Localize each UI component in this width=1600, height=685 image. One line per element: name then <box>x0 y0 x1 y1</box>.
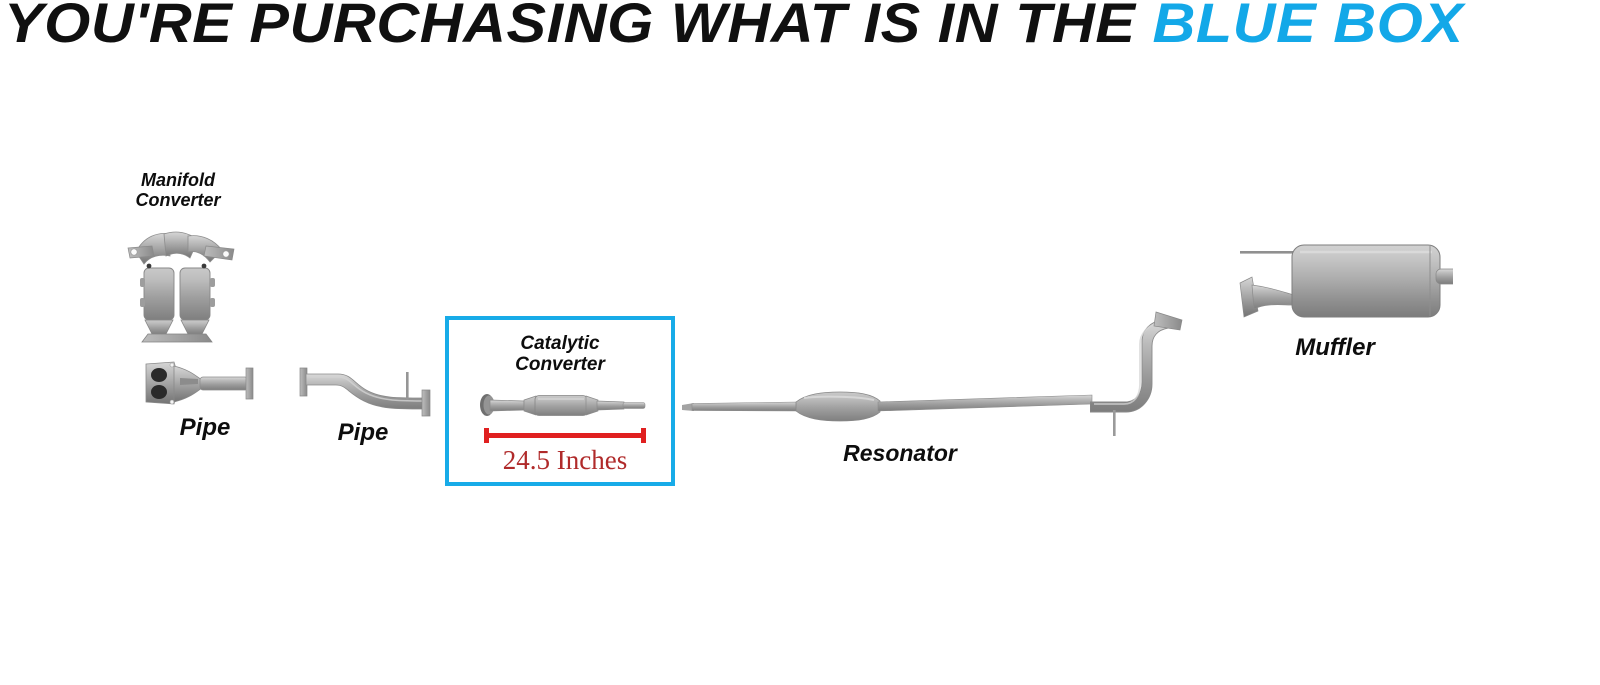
muffler-label: Muffler <box>1260 335 1410 362</box>
title-main-text: YOU'RE PURCHASING WHAT IS IN THE <box>4 0 1152 54</box>
mid-pipe-label: Pipe <box>308 420 418 447</box>
resonator-graphic <box>680 385 1100 435</box>
catalytic-converter-label-line1: Catalytic <box>460 333 660 354</box>
exhaust-system-diagram: YOU'RE PURCHASING WHAT IS IN THE BLUE BO… <box>0 0 1600 685</box>
title-accent-text: BLUE BOX <box>1152 0 1463 54</box>
manifold-converter-label-line2: Converter <box>108 190 248 210</box>
front-pipe-label: Pipe <box>150 415 260 442</box>
measurement-bar <box>484 428 646 442</box>
manifold-converter-label-line1: Manifold <box>108 170 248 190</box>
catalytic-converter-graphic <box>478 388 648 422</box>
measurement-value: 24.5 Inches <box>460 445 670 476</box>
manifold-converter-label: Manifold Converter <box>108 170 248 210</box>
manifold-converter-graphic <box>118 222 242 344</box>
muffler-graphic <box>1228 225 1453 335</box>
resonator-label: Resonator <box>820 441 980 467</box>
catalytic-converter-label-line2: Converter <box>460 354 660 375</box>
front-pipe-graphic <box>140 358 262 410</box>
mid-pipe-graphic <box>298 364 438 420</box>
title-text-group: YOU'RE PURCHASING WHAT IS IN THE BLUE BO… <box>4 0 1463 52</box>
measurement-line <box>484 433 646 438</box>
title-banner: YOU'RE PURCHASING WHAT IS IN THE BLUE BO… <box>0 0 1600 58</box>
rear-pipe-bend-graphic <box>1090 298 1200 438</box>
catalytic-converter-label: Catalytic Converter <box>460 333 660 376</box>
measurement-cap-right <box>641 428 646 443</box>
